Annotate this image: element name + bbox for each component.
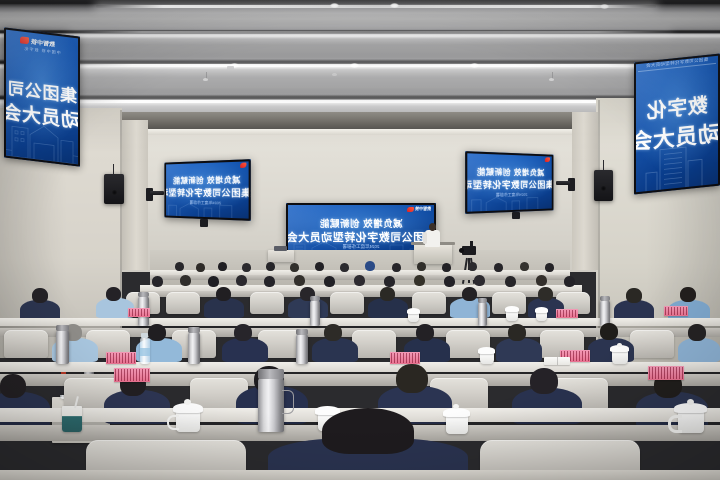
teacup-lid xyxy=(478,347,495,354)
ceiling-light-strip-4 xyxy=(46,100,688,103)
teacup-lid xyxy=(505,306,519,312)
thermos-cap xyxy=(310,296,320,301)
attendee-head xyxy=(680,287,696,302)
desk-notebook xyxy=(544,357,570,365)
presenter-podium xyxy=(414,244,452,264)
seat-back xyxy=(250,292,284,314)
attendee-head xyxy=(416,324,434,341)
desk-namecard xyxy=(664,306,688,316)
wall-speaker-left xyxy=(104,174,124,204)
ceiling-spotlight xyxy=(330,3,339,8)
attendee-head xyxy=(148,324,166,341)
attendee-head xyxy=(442,263,451,272)
attendee-head xyxy=(196,263,205,272)
desk-namecard xyxy=(106,352,136,364)
attendee-head xyxy=(444,276,455,287)
teacup-lid xyxy=(535,307,548,313)
ceiling-spotlight xyxy=(350,63,359,68)
desk-teacup xyxy=(446,414,468,434)
desk-thermos xyxy=(258,378,284,432)
attendee-head xyxy=(216,287,231,301)
attendee-shoulders xyxy=(496,338,542,362)
attendee-head xyxy=(396,364,428,393)
attendee-head xyxy=(688,324,706,341)
attendee-head xyxy=(340,263,349,272)
attendee-shoulders xyxy=(204,298,244,318)
attendee-head xyxy=(290,263,299,272)
attendee-head xyxy=(392,263,401,272)
ceiling-spotlight xyxy=(390,3,399,8)
teacup-knob xyxy=(184,399,191,405)
attendee-head xyxy=(315,262,324,271)
attendee-head xyxy=(266,262,275,271)
back-wall-light-cove xyxy=(118,129,602,135)
attendee-head xyxy=(494,263,503,272)
stage-side-table xyxy=(268,250,294,262)
attendee-head xyxy=(530,368,558,394)
attendee-head xyxy=(234,324,252,341)
teacup-handle xyxy=(668,415,682,433)
seat-back xyxy=(330,292,364,314)
far-left-banner-display[interactable]: 数智中铁 中国中铁 数字化 集团公司 动员大会 xyxy=(4,27,80,166)
ceiling-smoke-detector xyxy=(332,73,337,76)
column-left xyxy=(122,120,148,270)
ceiling-spotlight xyxy=(470,63,479,68)
camera-mic xyxy=(470,241,473,247)
desk-paper-cup xyxy=(62,406,82,432)
desk-teacup xyxy=(612,350,628,364)
desk-row-foreground xyxy=(0,470,720,480)
attendee-head xyxy=(242,263,251,272)
right-display-mount-arm xyxy=(556,181,570,185)
wall-speaker-right xyxy=(594,170,613,201)
desk-namecard xyxy=(128,308,150,317)
teacup-lid xyxy=(443,408,470,417)
attendee-head xyxy=(520,262,529,271)
desk-namecard xyxy=(556,309,578,318)
seat-back xyxy=(630,330,674,358)
attendee-head xyxy=(324,324,342,341)
desk-thermos xyxy=(478,302,487,326)
desk-teacup xyxy=(176,410,200,432)
attendee-head-foreground xyxy=(322,408,414,454)
attendee-head-cap xyxy=(365,261,375,271)
attendee-head xyxy=(600,323,618,340)
presenter-head xyxy=(429,223,436,231)
speaker-antenna-left xyxy=(113,164,114,175)
thermos-cap xyxy=(600,296,610,301)
attendee-head xyxy=(545,263,554,272)
thermos-cap xyxy=(138,292,149,297)
ceiling-light-strip-2 xyxy=(70,31,670,33)
attendee-head xyxy=(324,276,335,287)
attendee-head xyxy=(32,288,48,303)
attendee-shoulders xyxy=(222,338,268,362)
attendee-shoulders xyxy=(368,298,408,318)
seat-back xyxy=(4,330,48,358)
teacup-knob xyxy=(687,399,694,405)
attendee-shoulders xyxy=(312,338,358,362)
far-right-banner-display[interactable]: 集团公司数字化转型动员大会 数字化 动员大会 xyxy=(634,53,720,194)
attendee-head xyxy=(264,276,275,287)
back-wall-recess-band xyxy=(118,112,602,129)
attendee-head xyxy=(175,262,184,271)
attendee-head xyxy=(180,275,191,286)
attendee-head xyxy=(152,276,163,287)
ceiling-sprinkler-head xyxy=(203,78,208,81)
desk-thermos xyxy=(188,332,200,364)
attendee-head xyxy=(0,374,26,398)
attendee-head xyxy=(462,287,477,301)
screen-glare xyxy=(164,159,250,221)
desk-namecard xyxy=(648,366,684,380)
attendee-shoulders xyxy=(678,338,720,362)
ceiling-light-strip-1 xyxy=(96,5,656,8)
teacup-lid xyxy=(407,308,420,314)
presenter-body xyxy=(425,230,440,247)
attendee-head xyxy=(564,276,575,287)
ceiling-spotlight xyxy=(600,4,609,9)
seat-back xyxy=(166,292,200,314)
attendee-head xyxy=(294,275,305,286)
attendee-head xyxy=(354,275,365,286)
ceiling-sprinkler-head xyxy=(549,78,554,81)
attendee-head xyxy=(417,262,426,271)
teacup-knob xyxy=(453,404,459,409)
presenter-arm xyxy=(423,232,427,244)
thermos-cap xyxy=(188,327,200,333)
stage-laptop xyxy=(274,246,287,251)
attendee-head xyxy=(626,288,642,303)
desk-thermos xyxy=(56,330,69,364)
left-wall-display[interactable]: 减负增效 创新赋能 集团公司数字化转型动员大会 2024年度工作部署 xyxy=(164,159,250,221)
attendee-head xyxy=(218,262,227,271)
bottle-label xyxy=(140,348,150,356)
attendee-head xyxy=(468,262,477,271)
desk-thermos xyxy=(296,334,308,364)
teacup-handle xyxy=(167,415,179,430)
camera-lens xyxy=(459,248,464,253)
right-display-under-speaker xyxy=(512,212,520,219)
desk-namecard xyxy=(114,368,150,382)
attendee-head xyxy=(474,275,485,286)
attendee-head xyxy=(538,287,553,301)
desk-thermos xyxy=(310,300,320,326)
screen-glare xyxy=(465,151,553,214)
thermos-cap xyxy=(478,298,487,303)
screen-glare xyxy=(634,53,720,194)
thermos-handle xyxy=(282,390,294,414)
bottle-cap xyxy=(141,333,148,338)
attendee-head xyxy=(536,275,547,286)
teacup-knob xyxy=(617,343,622,347)
ceiling-light-strip-3 xyxy=(58,64,682,67)
thermos-cap xyxy=(258,369,284,379)
video-camera-tripod xyxy=(462,246,476,255)
left-display-under-speaker xyxy=(200,219,208,227)
thermos-cap xyxy=(296,329,308,335)
attendee-shoulders xyxy=(288,298,328,318)
attendee-head xyxy=(208,276,219,287)
ceiling-fixture xyxy=(227,66,234,70)
attendee-head xyxy=(380,287,395,301)
conference-hall-photo: 数智中铁 中国中铁 数字化 集团公司 动员大会 集团公司数字化转型动员大会 数字… xyxy=(0,0,720,480)
right-wall-display[interactable]: 减负增效 创新赋能 集团公司数字化转型动员大会 2024年度工作部署 xyxy=(465,151,553,214)
attendee-head xyxy=(106,287,121,301)
attendee-head xyxy=(236,275,247,286)
thermos-cap xyxy=(56,325,69,331)
attendee-head xyxy=(414,275,425,286)
attendee-head xyxy=(505,276,516,287)
screen-glare xyxy=(4,27,80,166)
speaker-antenna-right xyxy=(603,160,604,171)
attendee-head xyxy=(384,276,395,287)
left-display-mount-arm xyxy=(150,191,164,195)
attendee-head xyxy=(508,324,526,341)
desk-namecard xyxy=(390,352,420,364)
